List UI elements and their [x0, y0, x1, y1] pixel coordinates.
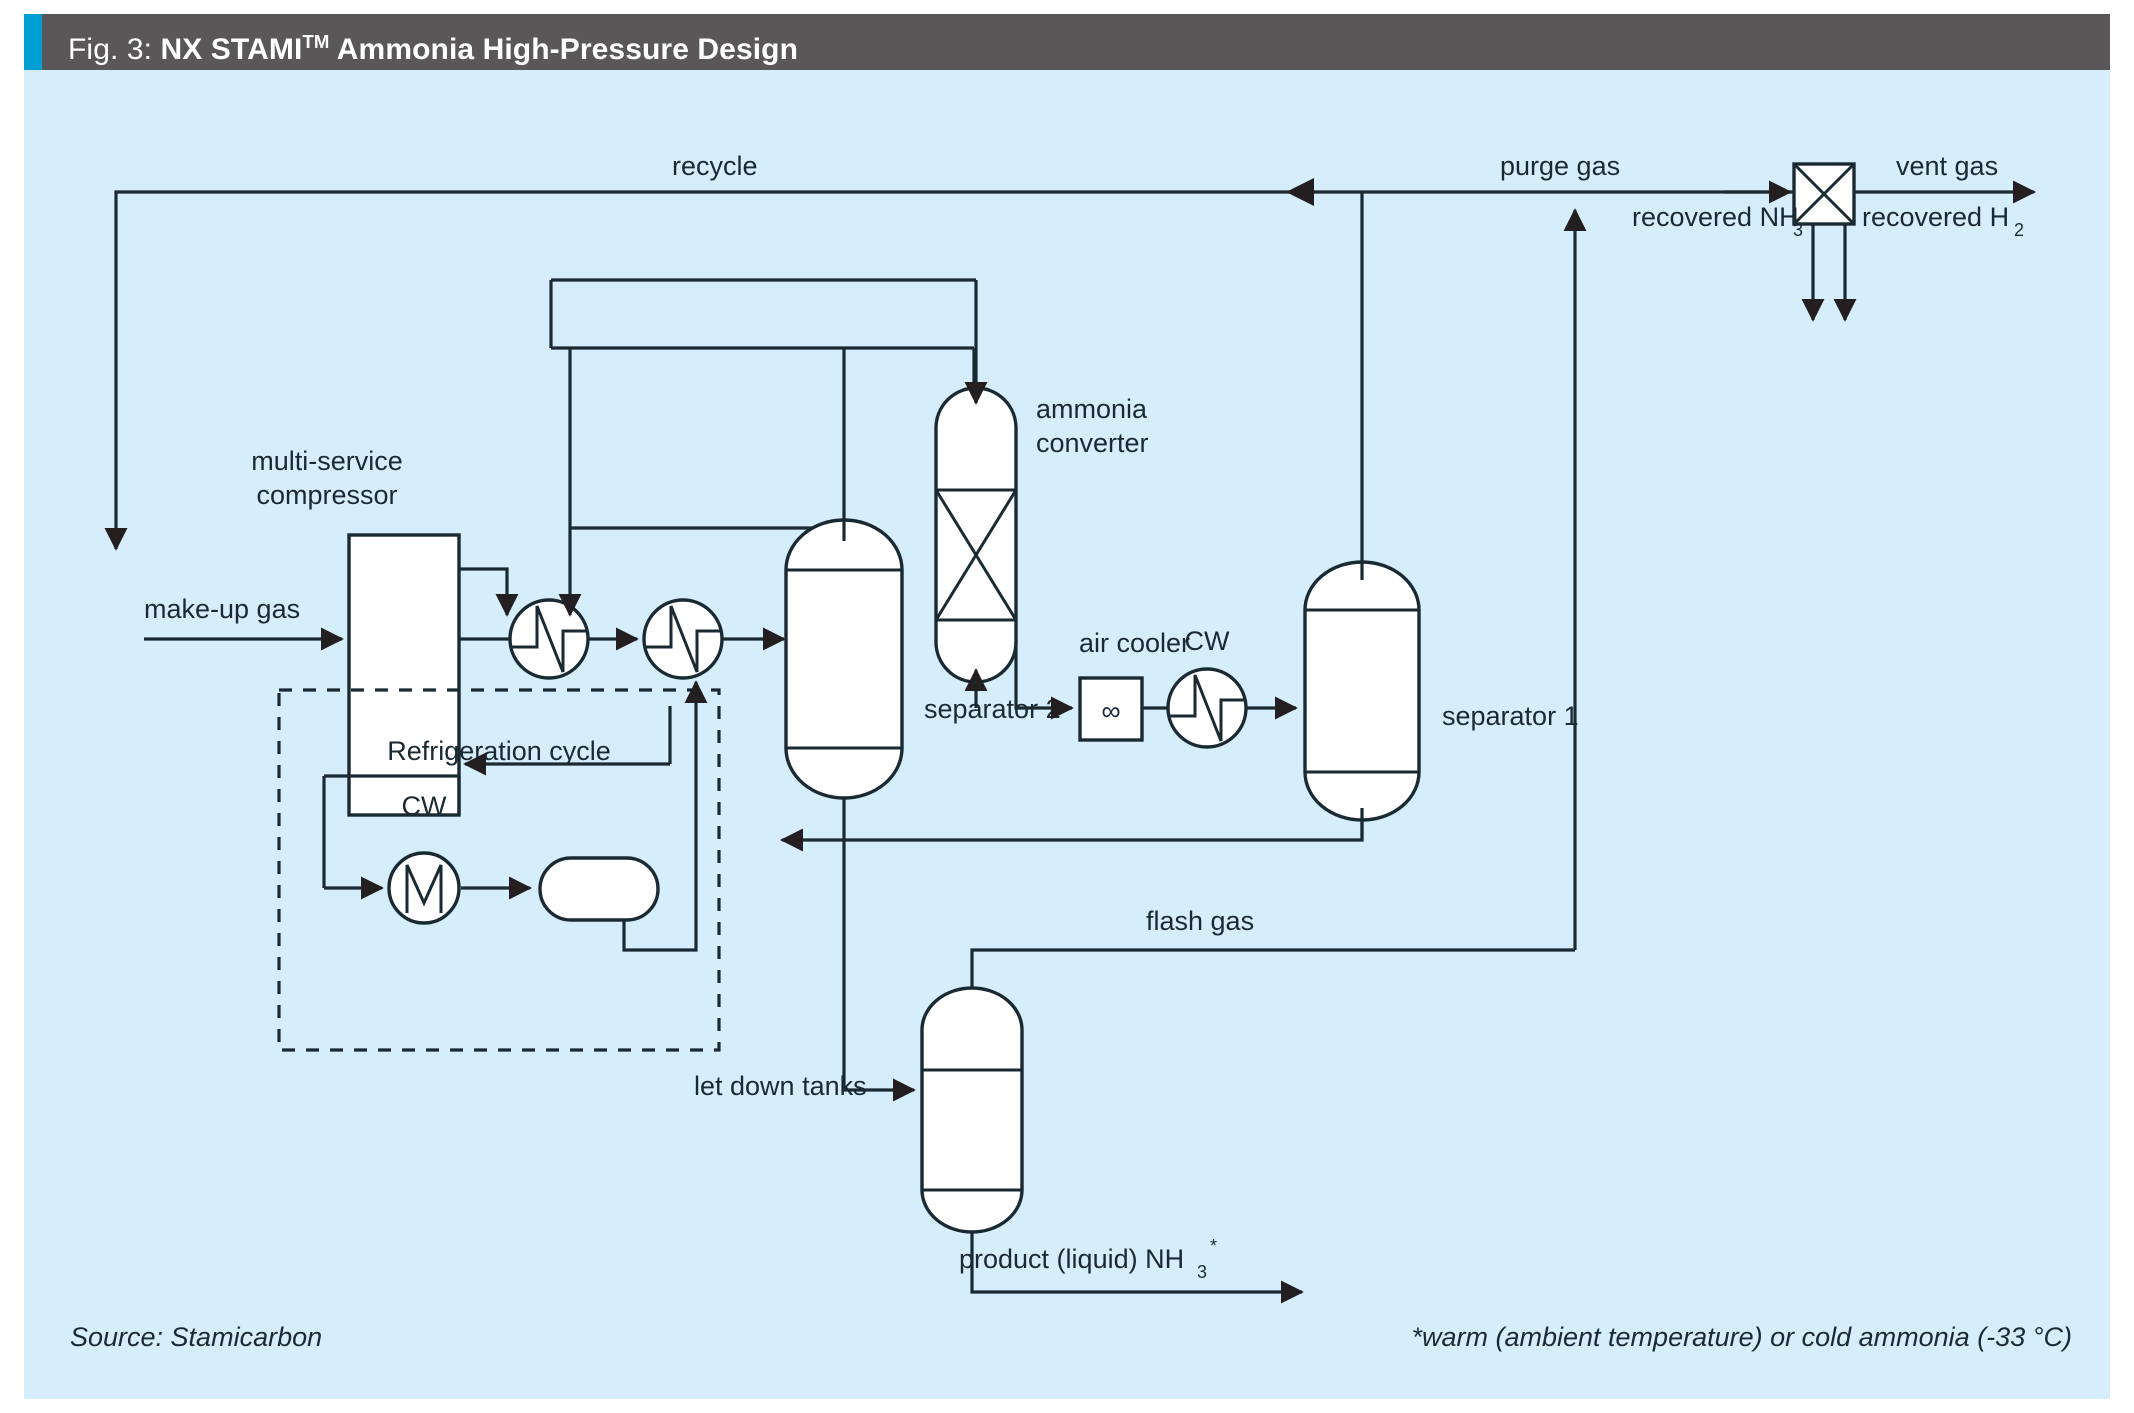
label-recycle: recycle: [672, 151, 758, 181]
fan-icon: ∞: [1101, 696, 1120, 726]
label-recovered-h2: recovered H: [1862, 202, 2009, 232]
label-refrigeration-cw: CW: [402, 791, 447, 821]
stream-purge-gas: purge gas: [1500, 151, 1620, 950]
flash-gas-line: [972, 950, 1575, 988]
refrigeration-pump: [389, 853, 459, 923]
stream-flash-gas: flash gas: [972, 906, 1575, 988]
label-flash-gas: flash gas: [1146, 906, 1254, 936]
label-recovered-nh3: recovered NH: [1632, 202, 1799, 232]
label-compressor-line2: compressor: [256, 480, 397, 510]
label-product-nh3: product (liquid) NH: [959, 1244, 1184, 1274]
label-product-footnote-star: *: [1210, 1236, 1217, 1256]
title-tail: Ammonia High-Pressure Design: [329, 33, 798, 66]
label-product-nh3-subscript: 3: [1197, 1262, 1207, 1282]
title-accent-bar: [24, 14, 42, 70]
figure-title-bar: Fig. 3: NX STAMITM Ammonia High-Pressure…: [24, 14, 2110, 70]
purge-gas-recovery-unit: [1794, 164, 1854, 224]
compressor-outlet-elbow: [459, 569, 507, 615]
separator2-bottom-to-letdown: [844, 798, 914, 1090]
label-purge-gas: purge gas: [1500, 151, 1620, 181]
label-converter-line2: converter: [1036, 428, 1149, 458]
page-title: Fig. 3: NX STAMITM Ammonia High-Pressure…: [68, 14, 798, 70]
label-recovered-nh3-subscript: 3: [1793, 220, 1803, 240]
stream-product-nh3: product (liquid) NH 3 *: [959, 1232, 1302, 1292]
label-make-up-gas: make-up gas: [144, 594, 300, 624]
process-flow-diagram: recycle purge gas vent gas recovered NH …: [24, 70, 2110, 1330]
label-refrigeration-cycle: Refrigeration cycle: [387, 736, 611, 766]
title-prefix: Fig. 3:: [68, 33, 161, 66]
footnote: *warm (ambient temperature) or cold ammo…: [1411, 1322, 2072, 1353]
label-vent-gas: vent gas: [1896, 151, 1998, 181]
interstage-cooler-2: [644, 600, 722, 678]
label-let-down-tanks: let down tanks: [694, 1071, 867, 1101]
recycle-arrowhead: [1286, 178, 1314, 206]
interstage-cooler-1: [510, 600, 588, 678]
refrigeration-drum: [540, 858, 658, 920]
separator1-bottom-liquid: [782, 820, 1362, 840]
stream-recovered-h2: recovered H 2: [1845, 202, 2024, 320]
stream-vent-gas: vent gas: [1854, 151, 2034, 192]
label-compressor-line1: multi-service: [251, 446, 403, 476]
source-note: Source: Stamicarbon: [70, 1322, 322, 1353]
separator-2: separator 2: [786, 520, 1061, 798]
label-converter-line1: ammonia: [1036, 394, 1148, 424]
stream-recovered-nh3: recovered NH 3: [1632, 202, 1813, 320]
stream-make-up-gas: make-up gas: [144, 594, 342, 639]
title-main: NX STAMI: [161, 33, 303, 66]
label-separator-1: separator 1: [1442, 701, 1579, 731]
figure-page: Fig. 3: NX STAMITM Ammonia High-Pressure…: [0, 0, 2134, 1413]
label-air-cooler: air cooler: [1079, 628, 1190, 658]
label-cw-cooler: CW: [1185, 626, 1230, 656]
title-trademark-icon: TM: [302, 31, 329, 52]
separator-1: separator 1: [1305, 562, 1579, 820]
label-recovered-h2-subscript: 2: [2014, 220, 2024, 240]
let-down-tanks: let down tanks: [694, 988, 1022, 1232]
refrigeration-cycle-group: Refrigeration cycle CW: [279, 682, 719, 1050]
